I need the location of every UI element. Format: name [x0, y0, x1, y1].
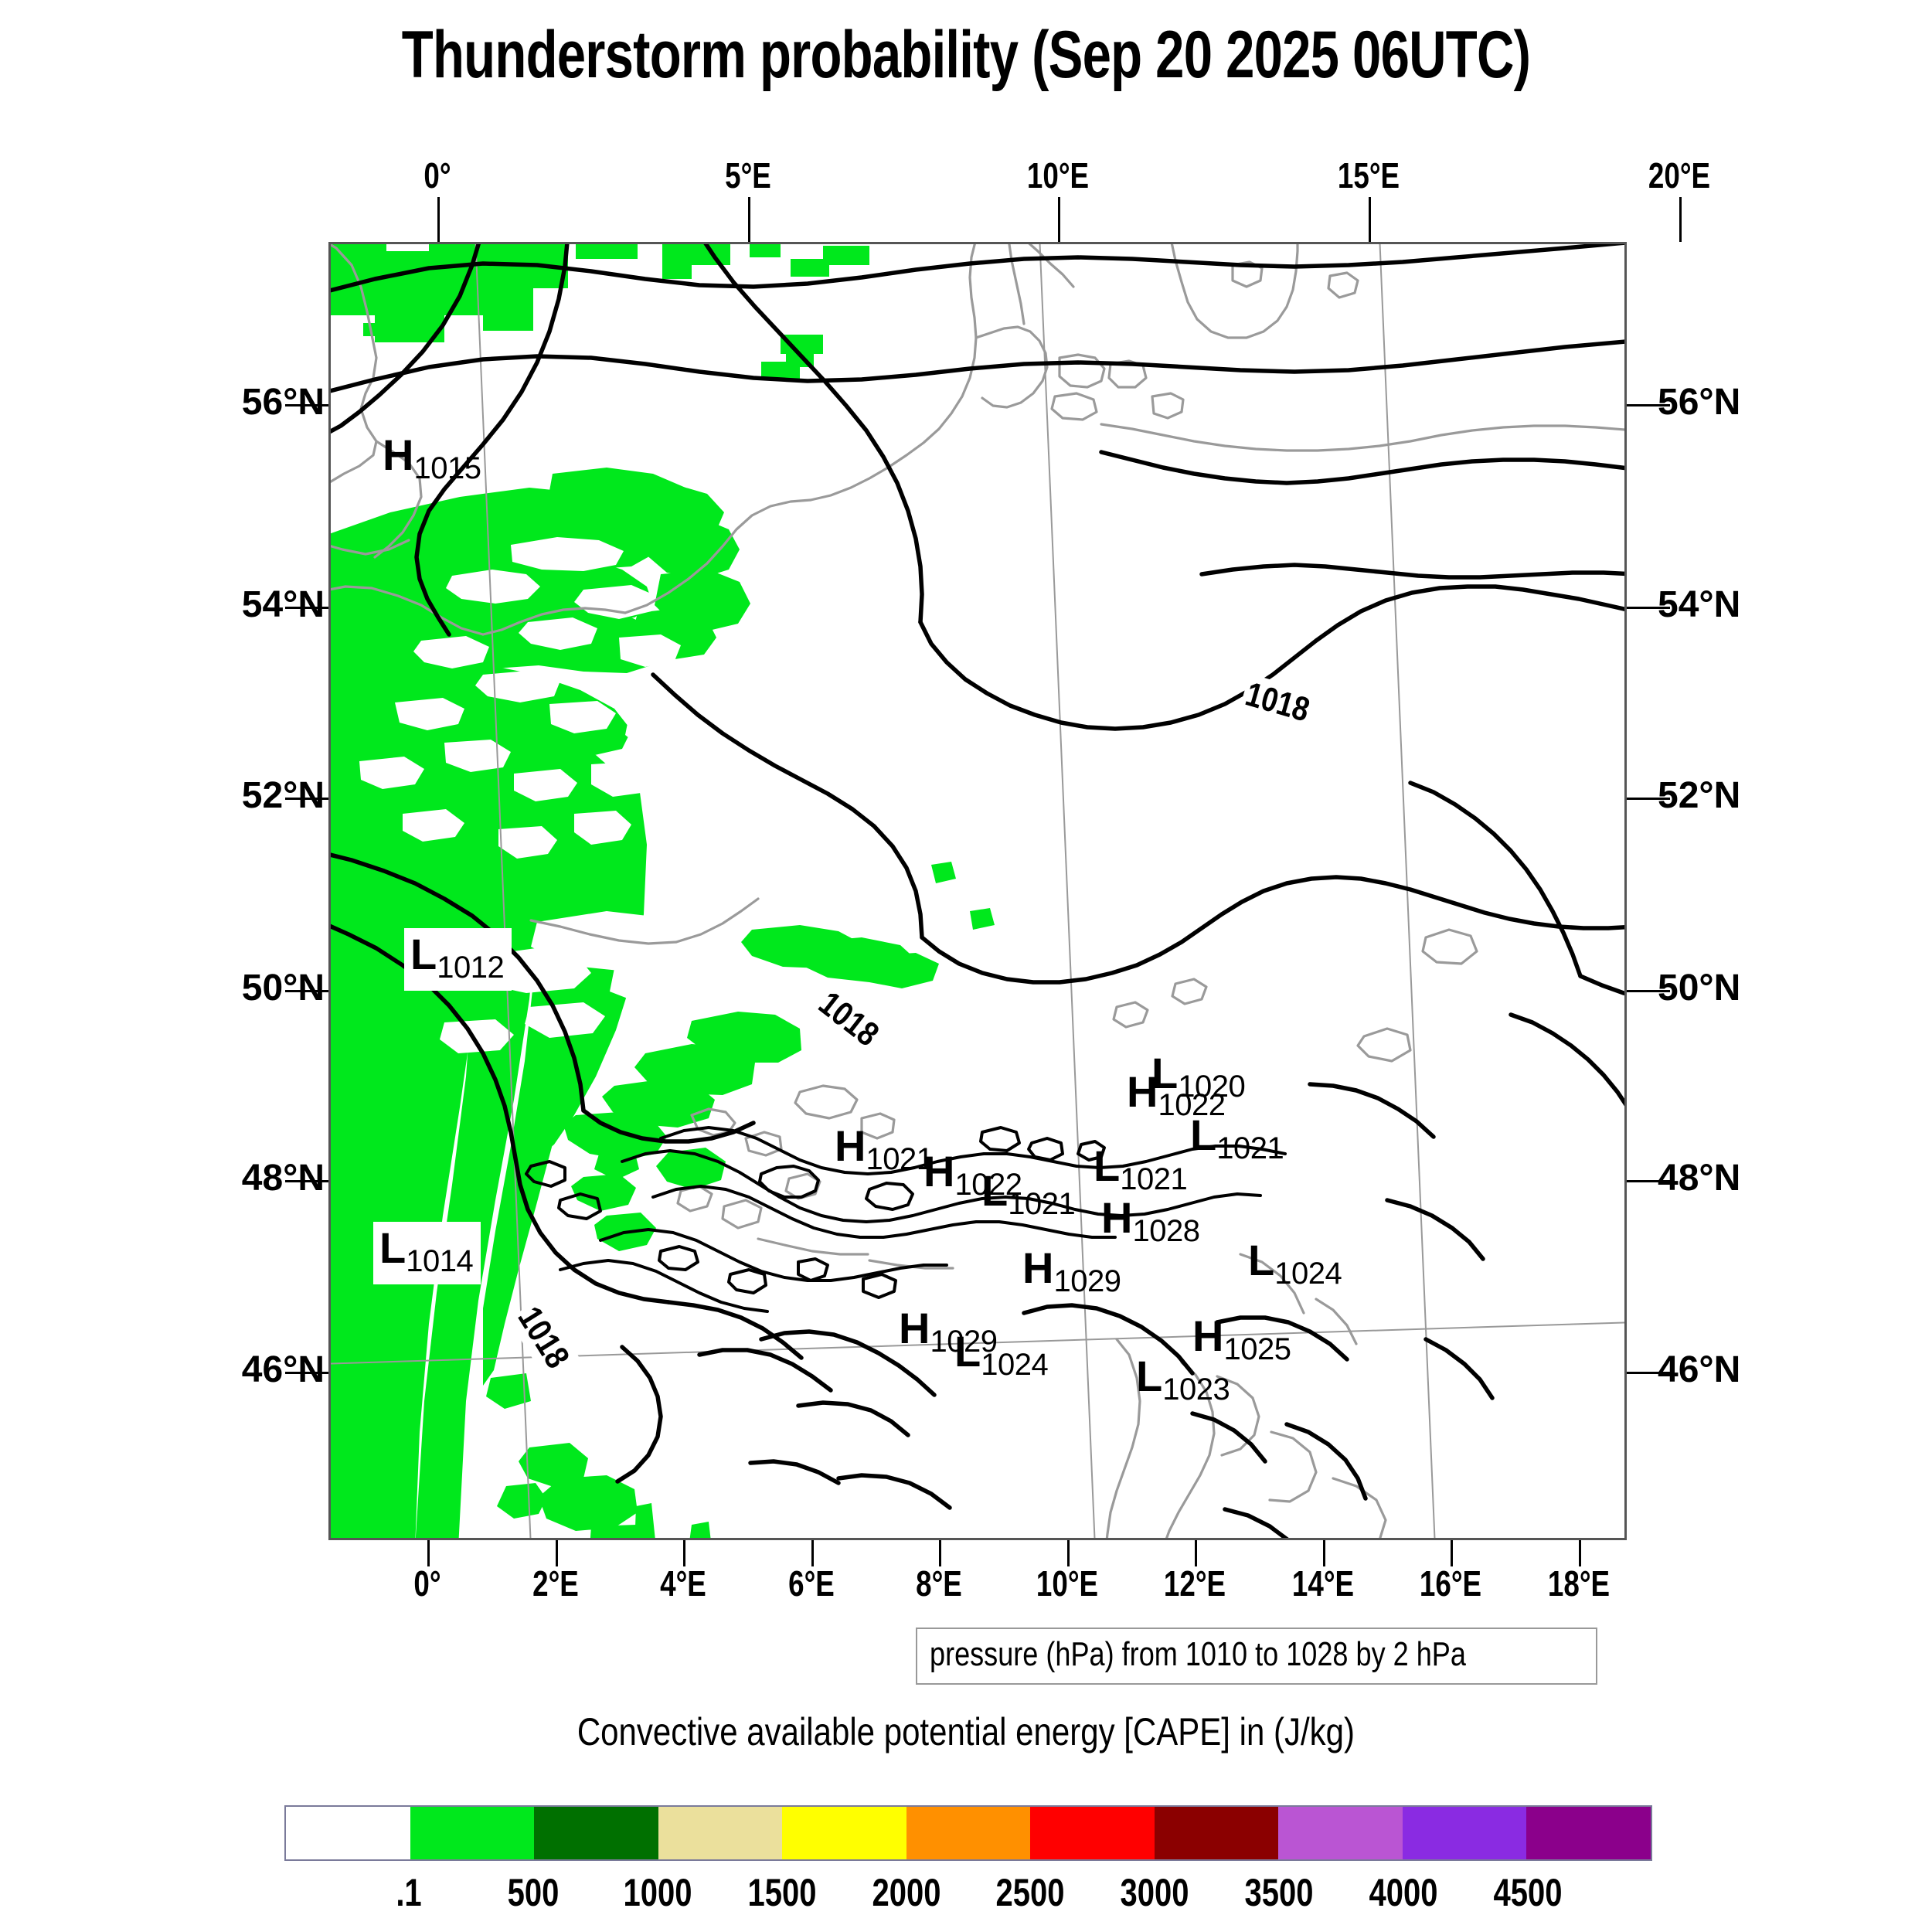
- pressure-center-l-9: L1020: [1151, 1052, 1245, 1102]
- top-tick-label-1: 5°E: [680, 155, 816, 196]
- pressure-center-value: 1021: [1120, 1162, 1187, 1196]
- top-tick-label-3: 15°E: [1301, 155, 1437, 196]
- colorbar-labels: .150010001500200025003000350040004500: [284, 1870, 1652, 1924]
- pressure-center-type: H: [383, 430, 413, 479]
- pressure-center-value: 1023: [1162, 1372, 1230, 1406]
- colorbar-swatch-9: [1403, 1807, 1527, 1859]
- pressure-center-value: 1021: [1008, 1187, 1075, 1221]
- left-tick-label-3: 50°N: [242, 967, 325, 1009]
- pressure-center-value: 1024: [981, 1348, 1048, 1382]
- colorbar-swatch-6: [1030, 1807, 1155, 1859]
- bottom-tick-label-6: 12°E: [1127, 1563, 1263, 1604]
- pressure-caption-text: pressure (hPa) from 1010 to 1028 by 2 hP…: [930, 1635, 1466, 1674]
- right-tick-label-0: 56°N: [1658, 381, 1740, 423]
- pressure-center-type: L: [410, 930, 437, 978]
- bottom-tick-label-4: 8°E: [871, 1563, 1007, 1604]
- right-tick-label-3: 50°N: [1658, 967, 1740, 1009]
- pressure-center-type: H: [1022, 1243, 1053, 1292]
- left-tick-label-0: 56°N: [242, 381, 325, 423]
- bottom-tick-label-7: 14°E: [1255, 1563, 1391, 1604]
- right-tick-label-2: 52°N: [1658, 774, 1740, 817]
- pressure-center-l-5: L1021: [981, 1169, 1075, 1219]
- pressure-center-type: L: [1248, 1236, 1274, 1284]
- top-tick-3: [1369, 197, 1371, 242]
- pressure-center-type: H: [835, 1121, 866, 1170]
- pressure-center-value: 1014: [406, 1244, 473, 1278]
- pressure-center-value: 1024: [1274, 1257, 1342, 1291]
- left-tick-label-1: 54°N: [242, 583, 325, 626]
- colorbar-swatch-8: [1278, 1807, 1403, 1859]
- colorbar-label-5: 2500: [975, 1870, 1086, 1915]
- colorbar-title-text: Convective available potential energy [C…: [577, 1709, 1355, 1754]
- pressure-center-h-11: H1029: [1022, 1247, 1121, 1297]
- pressure-center-type: L: [981, 1166, 1008, 1215]
- colorbar-label-3: 1500: [726, 1870, 838, 1915]
- left-tick-label-5: 46°N: [242, 1349, 325, 1391]
- colorbar-swatch-1: [410, 1807, 535, 1859]
- colorbar-label-0: .1: [353, 1870, 464, 1915]
- pressure-center-h-10: H1028: [1101, 1196, 1199, 1247]
- colorbar: [284, 1805, 1652, 1861]
- bottom-tick-label-3: 6°E: [743, 1563, 879, 1604]
- pressure-center-type: H: [1192, 1311, 1223, 1360]
- bottom-tick-label-9: 18°E: [1511, 1563, 1647, 1604]
- top-tick-1: [748, 197, 750, 242]
- colorbar-swatch-0: [286, 1807, 410, 1859]
- pressure-center-l-16: L1024: [1248, 1239, 1342, 1289]
- pressure-center-value: 1015: [413, 451, 481, 485]
- pressure-center-type: L: [954, 1327, 981, 1376]
- pressure-center-type: L: [379, 1223, 406, 1272]
- pressure-center-l-13: L1024: [954, 1330, 1048, 1380]
- top-tick-0: [437, 197, 440, 242]
- pressure-center-l-2: L1014: [373, 1222, 481, 1284]
- page-title: Thunderstorm probability (Sep 20 2025 06…: [213, 17, 1719, 94]
- colorbar-swatch-3: [658, 1807, 783, 1859]
- top-tick-label-2: 10°E: [990, 155, 1126, 196]
- pressure-center-l-1: L1012: [404, 928, 512, 991]
- pressure-center-h-15: H1025: [1192, 1315, 1291, 1365]
- colorbar-label-1: 500: [478, 1870, 589, 1915]
- colorbar-label-6: 3000: [1099, 1870, 1210, 1915]
- right-tick-label-5: 46°N: [1658, 1349, 1740, 1391]
- colorbar-label-7: 3500: [1223, 1870, 1335, 1915]
- colorbar-label-8: 4000: [1348, 1870, 1459, 1915]
- bottom-tick-label-2: 4°E: [615, 1563, 751, 1604]
- bottom-tick-label-5: 10°E: [999, 1563, 1135, 1604]
- top-tick-label-0: 0°: [369, 155, 505, 196]
- pressure-center-value: 1025: [1223, 1332, 1291, 1366]
- pressure-center-value: 1029: [1053, 1264, 1121, 1298]
- top-tick-label-4: 20°E: [1611, 155, 1747, 196]
- pressure-center-type: L: [1136, 1352, 1162, 1400]
- bottom-tick-label-8: 16°E: [1383, 1563, 1519, 1604]
- colorbar-swatch-4: [782, 1807, 906, 1859]
- pressure-center-h-0: H1015: [383, 434, 481, 484]
- pressure-center-type: H: [1101, 1193, 1132, 1242]
- bottom-tick-label-0: 0°: [359, 1563, 495, 1604]
- pressure-center-value: 1021: [1216, 1131, 1284, 1165]
- top-tick-4: [1679, 197, 1682, 242]
- pressure-center-value: 1028: [1132, 1214, 1199, 1248]
- colorbar-title: Convective available potential energy [C…: [0, 1709, 1932, 1754]
- colorbar-label-9: 4500: [1472, 1870, 1583, 1915]
- pressure-center-type: H: [923, 1147, 954, 1196]
- pressure-center-value: 1020: [1178, 1070, 1245, 1104]
- left-tick-label-4: 48°N: [242, 1157, 325, 1199]
- colorbar-swatch-5: [906, 1807, 1031, 1859]
- pressure-center-type: H: [899, 1304, 930, 1352]
- colorbar-swatch-2: [534, 1807, 658, 1859]
- right-tick-label-4: 48°N: [1658, 1157, 1740, 1199]
- top-tick-2: [1058, 197, 1060, 242]
- colorbar-label-4: 2000: [851, 1870, 962, 1915]
- bottom-tick-label-1: 2°E: [488, 1563, 624, 1604]
- right-tick-label-1: 54°N: [1658, 583, 1740, 626]
- colorbar-swatch-10: [1526, 1807, 1651, 1859]
- pressure-center-value: 1012: [437, 951, 504, 985]
- pressure-center-h-3: H1021: [835, 1124, 933, 1175]
- colorbar-label-2: 1000: [602, 1870, 713, 1915]
- pressure-caption: pressure (hPa) from 1010 to 1028 by 2 hP…: [916, 1628, 1597, 1685]
- left-tick-label-2: 52°N: [242, 774, 325, 817]
- colorbar-swatch-7: [1155, 1807, 1279, 1859]
- pressure-center-type: L: [1151, 1049, 1178, 1097]
- pressure-center-type: L: [1094, 1141, 1120, 1190]
- pressure-center-l-6: L1021: [1094, 1145, 1187, 1195]
